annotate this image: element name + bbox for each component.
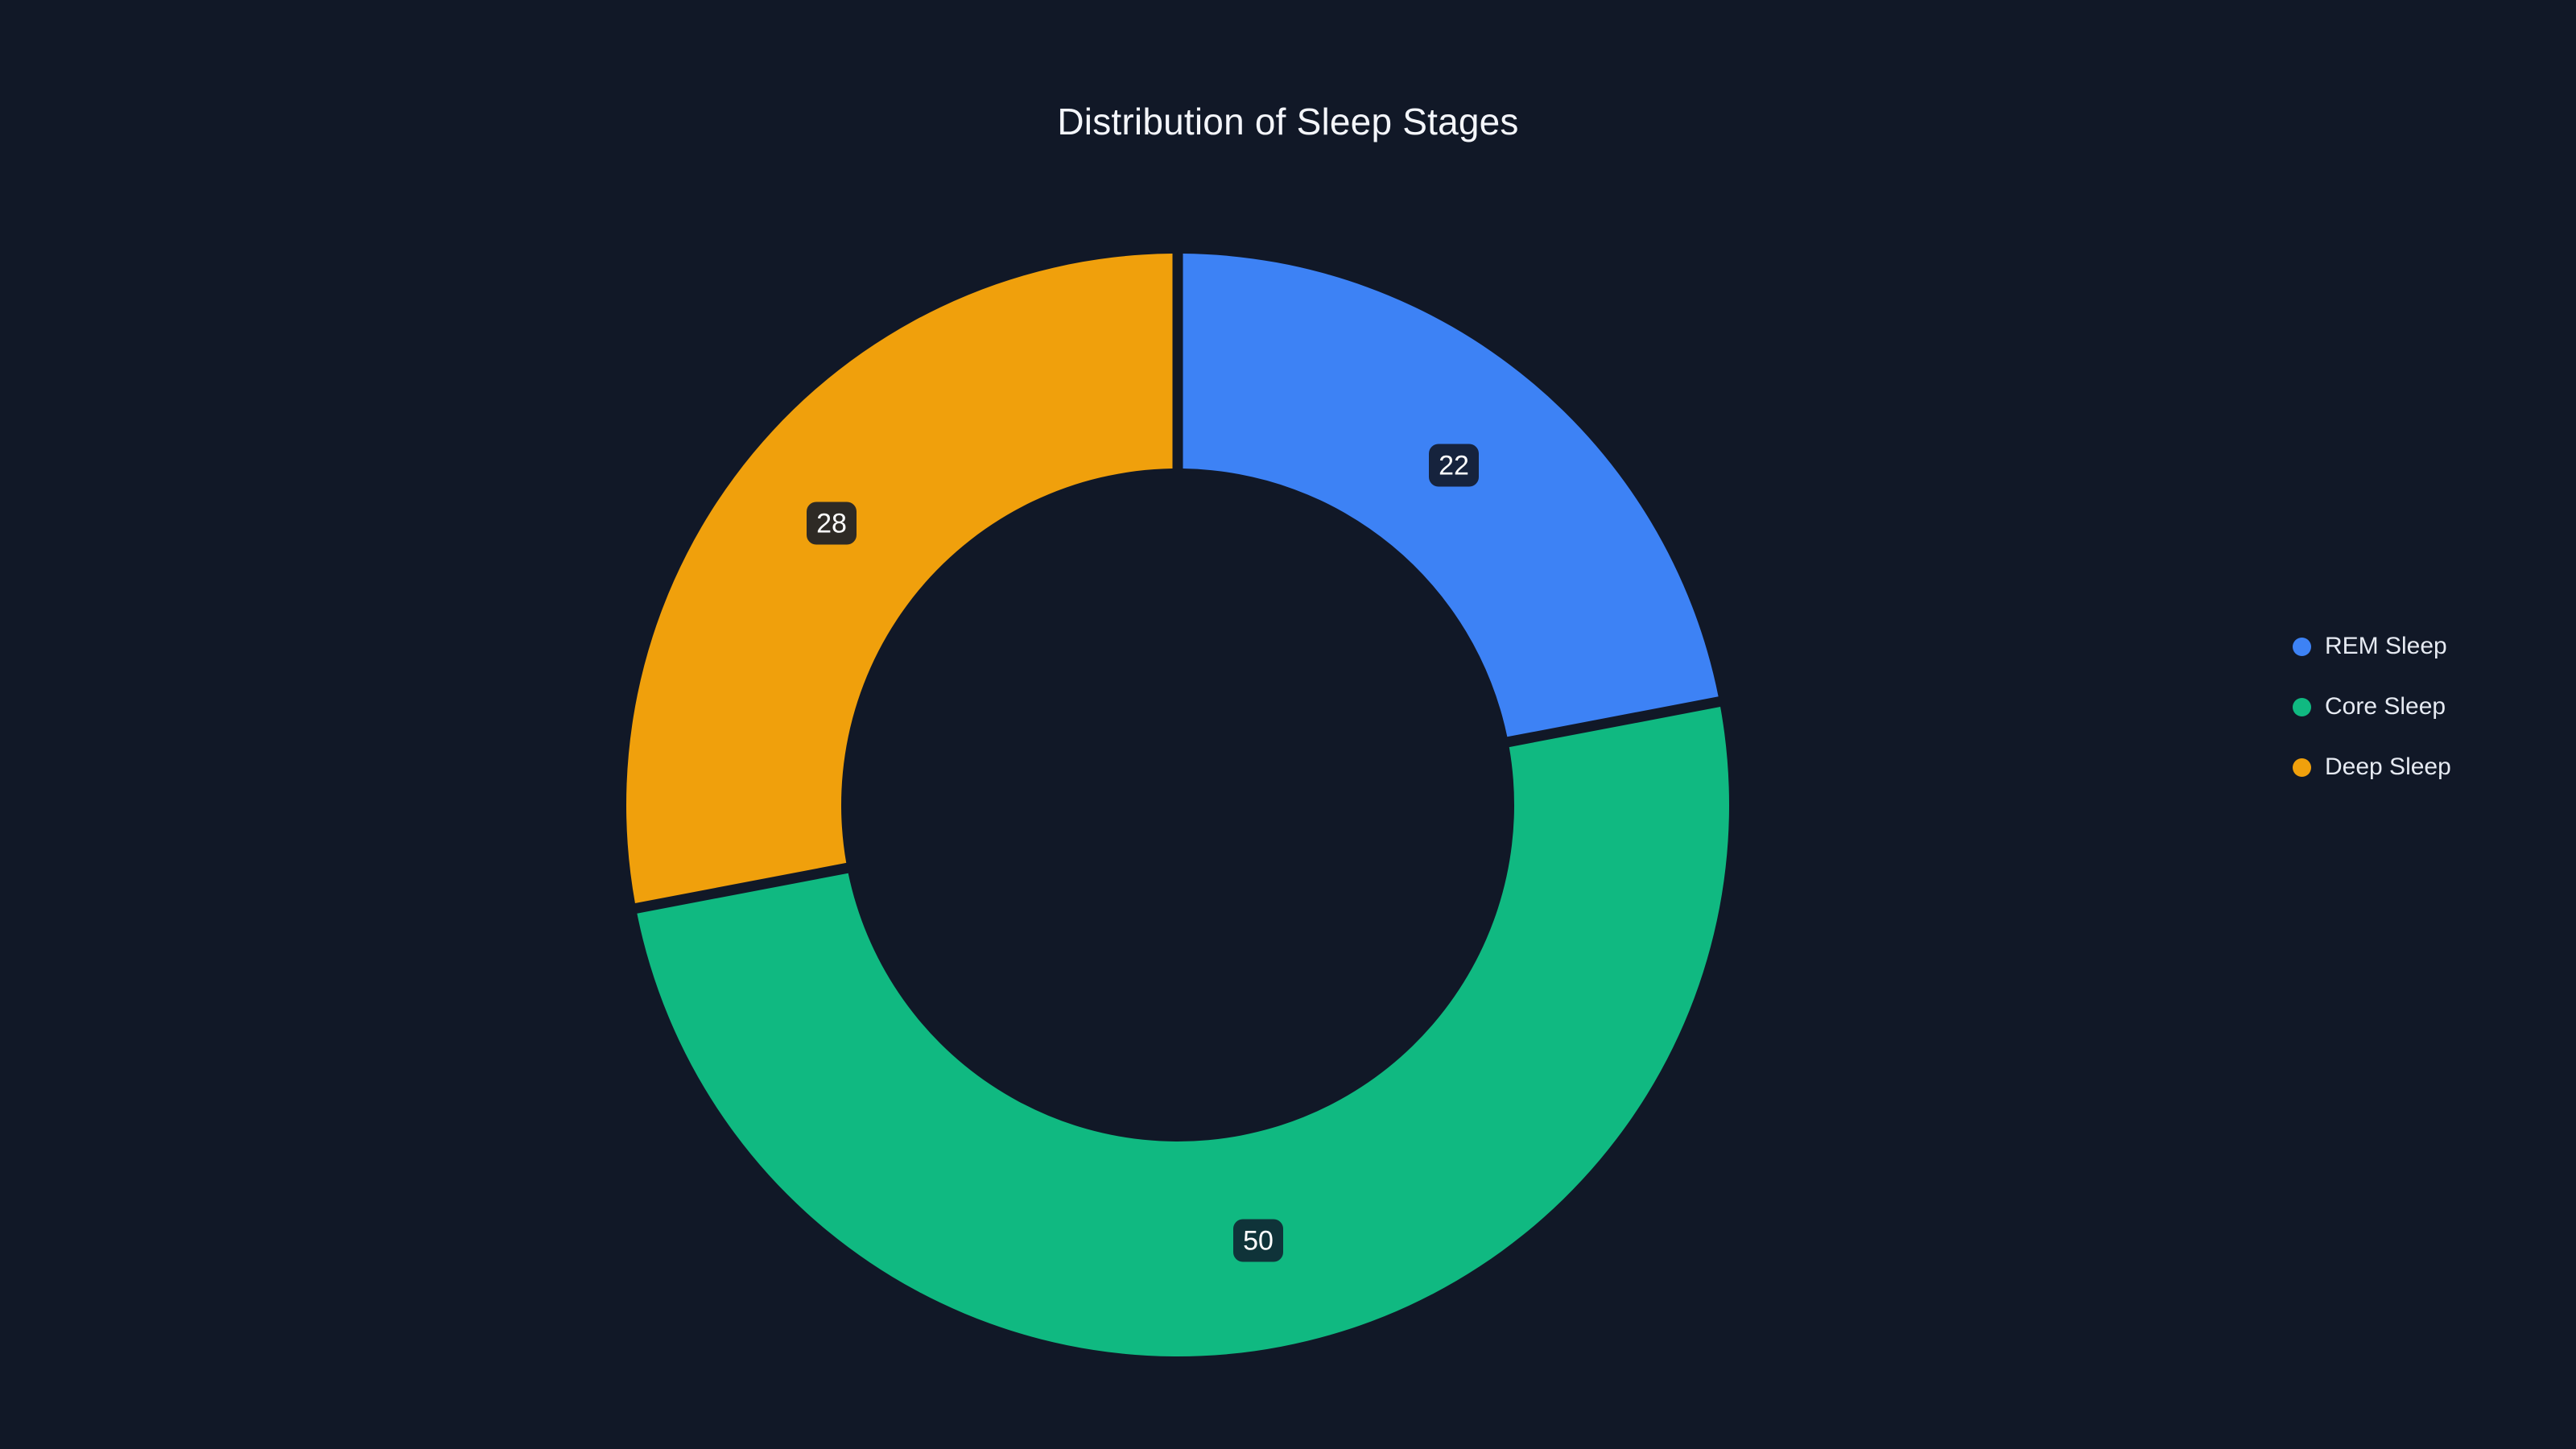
legend-swatch-icon: [2293, 758, 2311, 777]
legend-item[interactable]: REM Sleep: [2293, 636, 2451, 657]
legend-item[interactable]: Core Sleep: [2293, 696, 2451, 717]
donut-slice[interactable]: [626, 254, 1173, 903]
legend-item[interactable]: Deep Sleep: [2293, 757, 2451, 778]
legend-item-label: Core Sleep: [2325, 695, 2446, 719]
legend-item-label: REM Sleep: [2325, 634, 2447, 658]
slice-value-label: 50: [1233, 1220, 1283, 1262]
slice-value-label: 28: [807, 502, 857, 545]
chart-canvas: Distribution of Sleep Stages 225028 REM …: [0, 0, 2576, 1449]
legend-swatch-icon: [2293, 698, 2311, 716]
chart-legend: REM SleepCore SleepDeep Sleep: [2293, 636, 2451, 778]
legend-swatch-icon: [2293, 638, 2311, 656]
donut-slices: [626, 254, 1729, 1356]
legend-item-label: Deep Sleep: [2325, 755, 2451, 779]
donut-slice[interactable]: [1183, 254, 1718, 737]
donut-chart: 225028: [0, 0, 2576, 1449]
slice-value-label: 22: [1429, 444, 1479, 487]
donut-chart-svg: [0, 0, 2576, 1449]
